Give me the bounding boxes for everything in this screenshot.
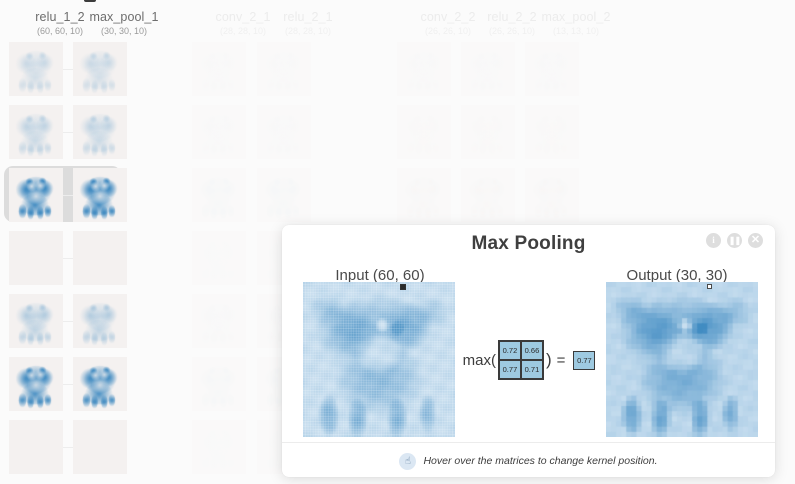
feature-map[interactable]	[257, 105, 311, 159]
kernel-cell: 0.71	[521, 360, 543, 379]
modal-divider	[282, 442, 775, 443]
modal-footer: ☝ Hover over the matrices to change kern…	[282, 447, 775, 475]
max-pooling-modal: Max Pooling i ❚❚ ✕ Input (60, 60) Output…	[282, 225, 775, 477]
feature-map[interactable]	[397, 105, 451, 159]
feature-map[interactable]	[73, 168, 127, 222]
kernel-cell: 0.77	[499, 360, 521, 379]
layer-name: relu_2_1	[248, 10, 368, 24]
layer-connector	[63, 258, 73, 259]
formula-equals: =	[557, 352, 566, 369]
feature-map[interactable]	[192, 420, 246, 474]
input-kernel-marker[interactable]	[400, 284, 406, 290]
feature-map[interactable]	[9, 42, 63, 96]
feature-map[interactable]	[257, 168, 311, 222]
result-cell: 0.77	[573, 351, 595, 370]
feature-map[interactable]	[461, 105, 515, 159]
layer-connector	[63, 69, 73, 70]
layer-connector	[63, 321, 73, 322]
kernel-matrix: 0.72 0.66 0.77 0.71	[498, 340, 544, 380]
layer-shape: (30, 30, 10)	[64, 25, 184, 37]
feature-map[interactable]	[9, 231, 63, 285]
modal-title: Max Pooling	[282, 233, 775, 255]
layer-connector	[63, 447, 73, 448]
feature-map[interactable]	[9, 105, 63, 159]
output-kernel-marker[interactable]	[707, 284, 712, 289]
close-icon[interactable]: ✕	[748, 233, 763, 248]
layer-connector	[63, 384, 73, 385]
feature-map[interactable]	[73, 420, 127, 474]
layer-connector	[63, 195, 73, 196]
feature-map[interactable]	[9, 357, 63, 411]
feature-map[interactable]	[9, 168, 63, 222]
feature-map[interactable]	[192, 42, 246, 96]
layer-name: max_pool_1	[64, 10, 184, 24]
feature-map[interactable]	[397, 168, 451, 222]
layer-connector	[63, 132, 73, 133]
feature-map[interactable]	[73, 105, 127, 159]
feature-map[interactable]	[257, 42, 311, 96]
layer-header-max_pool_2[interactable]: max_pool_2(13, 13, 10)	[516, 10, 636, 37]
feature-map[interactable]	[73, 294, 127, 348]
feature-map[interactable]	[525, 168, 579, 222]
feature-map[interactable]	[73, 42, 127, 96]
feature-map[interactable]	[192, 105, 246, 159]
layer-name: max_pool_2	[516, 10, 636, 24]
modal-controls: i ❚❚ ✕	[706, 233, 763, 248]
kernel-cell: 0.72	[499, 341, 521, 360]
feature-map[interactable]	[461, 168, 515, 222]
layer-shape: (13, 13, 10)	[516, 25, 636, 37]
output-matrix[interactable]	[606, 282, 758, 437]
pause-icon[interactable]: ❚❚	[727, 233, 742, 248]
input-matrix[interactable]	[303, 282, 455, 437]
max-pooling-formula: max( 0.72 0.66 0.77 0.71 ) = 0.77	[458, 337, 600, 383]
feature-map[interactable]	[192, 294, 246, 348]
feature-map[interactable]	[461, 42, 515, 96]
top-cut-element	[84, 0, 96, 2]
layer-shape: (28, 28, 10)	[248, 25, 368, 37]
feature-map[interactable]	[73, 231, 127, 285]
feature-map[interactable]	[525, 42, 579, 96]
feature-map[interactable]	[525, 105, 579, 159]
feature-map[interactable]	[192, 357, 246, 411]
feature-map[interactable]	[192, 168, 246, 222]
feature-map[interactable]	[192, 231, 246, 285]
pointing-hand-icon: ☝	[399, 453, 416, 470]
formula-close-paren: )	[546, 350, 552, 370]
feature-map[interactable]	[397, 42, 451, 96]
feature-map[interactable]	[73, 357, 127, 411]
feature-map[interactable]	[9, 420, 63, 474]
kernel-cell: 0.66	[521, 341, 543, 360]
info-icon[interactable]: i	[706, 233, 721, 248]
app-root: relu_1_2(60, 60, 10)max_pool_1(30, 30, 1…	[0, 0, 795, 484]
footer-hint-text: Hover over the matrices to change kernel…	[423, 455, 657, 467]
feature-map[interactable]	[9, 294, 63, 348]
layer-header-max_pool_1[interactable]: max_pool_1(30, 30, 10)	[64, 10, 184, 37]
formula-max-operator: max(	[463, 352, 496, 369]
layer-header-relu_2_1[interactable]: relu_2_1(28, 28, 10)	[248, 10, 368, 37]
